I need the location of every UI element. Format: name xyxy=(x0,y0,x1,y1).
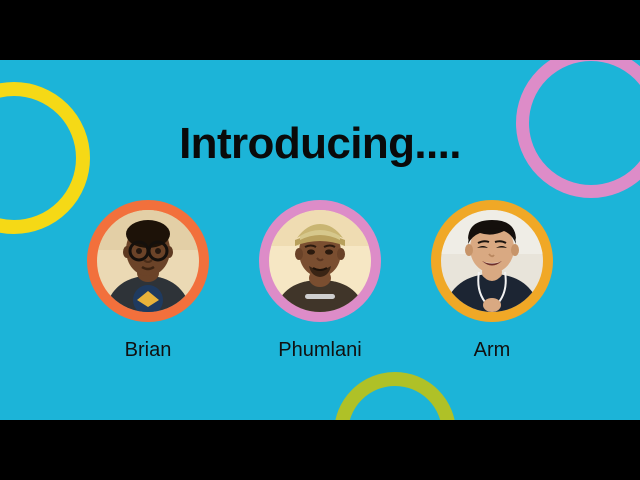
person-name-brian: Brian xyxy=(125,340,172,360)
avatar-brian xyxy=(87,200,209,322)
letterbox-top-bar xyxy=(0,0,640,60)
person-card-brian: Brian xyxy=(76,200,220,360)
avatar-arm xyxy=(431,200,553,322)
olive-ring-decoration xyxy=(334,372,456,420)
avatar-phumlani xyxy=(259,200,381,322)
avatar-photo-phumlani xyxy=(269,210,371,312)
people-row: Brian xyxy=(0,200,640,360)
person-card-phumlani: Phumlani xyxy=(248,200,392,360)
person-name-arm: Arm xyxy=(474,340,511,360)
letterbox-bottom-bar xyxy=(0,420,640,480)
avatar-photo-brian xyxy=(97,210,199,312)
person-card-arm: Arm xyxy=(420,200,564,360)
portrait-arm xyxy=(441,210,543,312)
portrait-brian xyxy=(97,210,199,312)
portrait-phumlani xyxy=(269,210,371,312)
page-title: Introducing.... xyxy=(0,122,640,166)
slide-stage: Introducing.... xyxy=(0,0,640,480)
slide-canvas: Introducing.... xyxy=(0,60,640,420)
person-name-phumlani: Phumlani xyxy=(278,340,361,360)
avatar-photo-arm xyxy=(441,210,543,312)
